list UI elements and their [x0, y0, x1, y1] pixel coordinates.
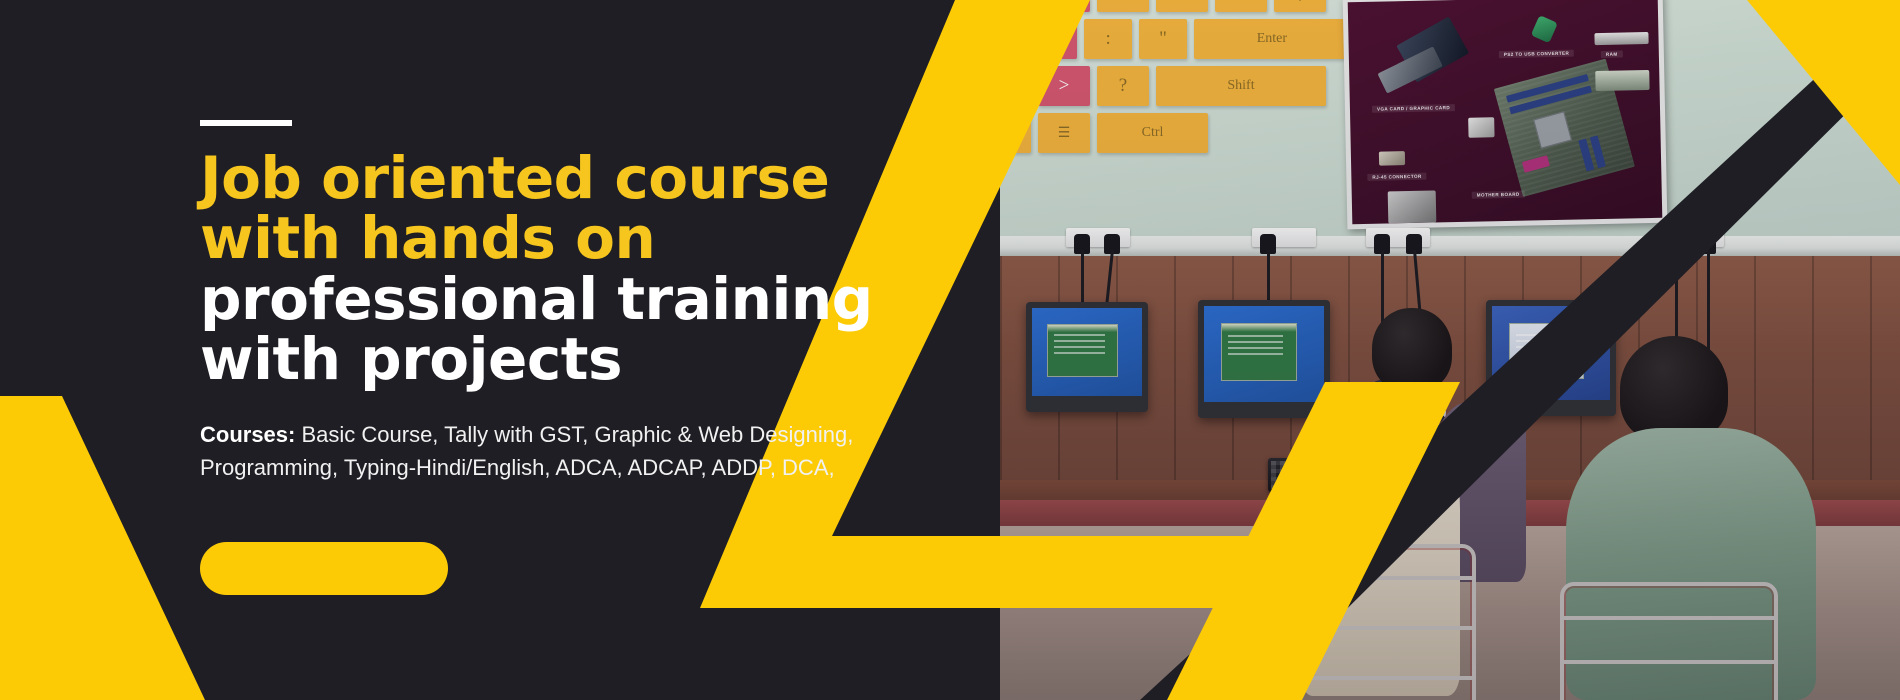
sticky-note: { [1156, 0, 1208, 12]
head [1620, 336, 1728, 442]
sticky-note: : [1084, 19, 1132, 59]
ram-image [1594, 32, 1648, 45]
headline-line-1: Job oriented course [200, 148, 960, 208]
wall-ledge [1000, 236, 1900, 256]
poster-label: RJ-45 CONNECTOR [1367, 173, 1426, 181]
courses-text: Basic Course, Tally with GST, Graphic & … [200, 422, 853, 480]
sticky-note: " [1139, 19, 1187, 59]
sticky-note: } [1215, 0, 1267, 12]
hero-banner: U I O P { } | J K L : " Enter M [0, 0, 1900, 700]
sticky-note: P [1097, 0, 1149, 12]
poster-label: VGA CARD / GRAPHIC CARD [1372, 104, 1455, 113]
courses-label: Courses: [200, 422, 295, 447]
hero-content: Job oriented course with hands on profes… [200, 120, 960, 600]
chair [1560, 582, 1778, 700]
vga-connector-image [1468, 117, 1494, 138]
cta-button[interactable] [200, 542, 448, 595]
head [1372, 308, 1452, 392]
page-title: Job oriented course with hands on profes… [200, 148, 960, 389]
poster-label: MOTHER BOARD [1472, 191, 1525, 199]
courses-list: Courses: Basic Course, Tally with GST, G… [200, 419, 890, 484]
poster-label: RAM [1601, 51, 1623, 58]
ram-image-2 [1595, 70, 1649, 91]
headline-line-3: professional training [200, 269, 960, 329]
accent-rule [200, 120, 292, 126]
note-row: Alt ⊞ ☰ Ctrl [1000, 113, 1350, 153]
sticky-note: | [1274, 0, 1326, 12]
rj45-connector-image [1379, 151, 1405, 166]
headline-line-4: with projects [200, 329, 960, 389]
sticky-note: Enter [1194, 19, 1350, 59]
hardware-poster: VGA CARD / GRAPHIC CARD PS2 TO USB CONVE… [1343, 0, 1668, 229]
ps2-usb-converter-image [1531, 15, 1558, 43]
sticky-note: ☰ [1038, 113, 1090, 153]
monitor [1026, 302, 1148, 412]
sticky-note: Shift [1156, 66, 1326, 106]
sticky-note: Ctrl [1097, 113, 1208, 153]
headline-line-2: with hands on [200, 208, 960, 268]
cpu-image [1388, 190, 1437, 223]
poster-label: PS2 TO USB CONVERTER [1499, 50, 1574, 59]
sticky-note: ? [1097, 66, 1149, 106]
monitor [1198, 300, 1330, 418]
